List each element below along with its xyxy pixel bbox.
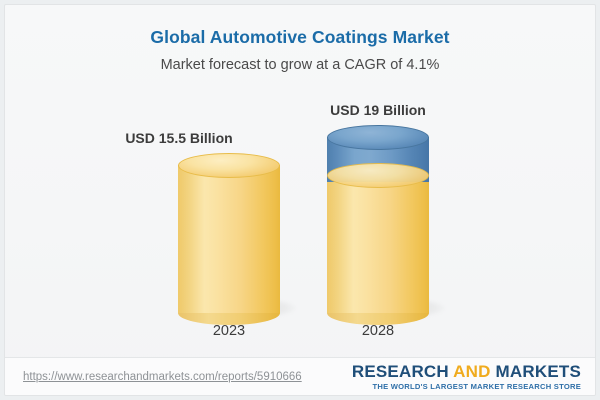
chart-card: Global Automotive Coatings Market Market… (4, 4, 596, 396)
cylinder-body-gold-2028 (327, 175, 429, 313)
footer: https://www.researchandmarkets.com/repor… (5, 358, 595, 396)
logo-tagline: THE WORLD'S LARGEST MARKET RESEARCH STOR… (352, 381, 581, 392)
bar-value-label-2023: USD 15.5 Billion (79, 130, 279, 146)
chart-plot-area: USD 15.5 Billion 2023 USD 19 Billion (5, 5, 596, 357)
research-and-markets-logo[interactable]: RESEARCH AND MARKETS THE WORLD'S LARGEST… (352, 362, 581, 392)
bar-value-label-2028: USD 19 Billion (278, 102, 478, 118)
logo-word-and: AND (453, 362, 490, 381)
cylinder-divider-2028 (327, 163, 429, 188)
logo-wordmark: RESEARCH AND MARKETS (352, 362, 581, 381)
cylinder-top-2028 (327, 125, 429, 150)
cylinder-body-gold-2023 (178, 165, 280, 313)
category-label-2028: 2028 (278, 323, 478, 339)
report-url-link[interactable]: https://www.researchandmarkets.com/repor… (23, 371, 302, 383)
cylinder-top-2023 (178, 153, 280, 178)
logo-word-research: RESEARCH (352, 362, 453, 381)
logo-word-markets: MARKETS (491, 362, 581, 381)
